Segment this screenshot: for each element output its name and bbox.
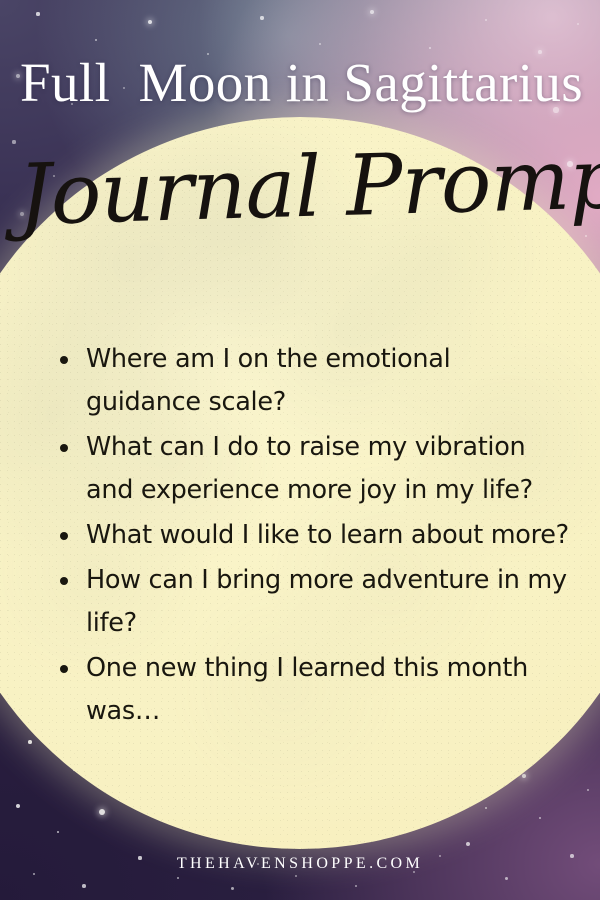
page-title: Full Moon in Sagittarius bbox=[20, 55, 586, 110]
prompt-text: Where am I on the emotional guidance sca… bbox=[86, 344, 450, 417]
star-dot bbox=[177, 877, 180, 880]
star-dot bbox=[295, 875, 297, 877]
bullet-icon bbox=[60, 577, 68, 585]
star-dot bbox=[36, 12, 39, 15]
prompt-text: One new thing I learned this month was… bbox=[86, 653, 528, 726]
script-heading: Journal Prompts bbox=[17, 134, 585, 240]
prompt-text: What can I do to raise my vibration and … bbox=[86, 432, 533, 505]
prompt-list-item: How can I bring more adventure in my lif… bbox=[56, 559, 572, 645]
star-dot bbox=[505, 877, 508, 880]
star-dot bbox=[577, 23, 579, 25]
prompt-list-item: One new thing I learned this month was… bbox=[56, 647, 572, 733]
star-dot bbox=[231, 887, 234, 890]
prompt-text: What would I like to learn about more? bbox=[86, 520, 569, 550]
star-dot bbox=[319, 43, 321, 45]
star-dot bbox=[370, 10, 374, 14]
bullet-icon bbox=[60, 532, 68, 540]
star-dot bbox=[95, 39, 97, 41]
star-dot bbox=[148, 20, 152, 24]
prompt-list-item: What would I like to learn about more? bbox=[56, 514, 572, 557]
star-dot bbox=[260, 16, 263, 19]
prompt-list-item: Where am I on the emotional guidance sca… bbox=[56, 338, 572, 424]
star-dot bbox=[485, 19, 487, 21]
journal-prompt-list: Where am I on the emotional guidance sca… bbox=[56, 338, 572, 735]
bullet-icon bbox=[60, 665, 68, 673]
star-dot bbox=[33, 873, 35, 875]
star-dot bbox=[355, 885, 358, 888]
bullet-icon bbox=[60, 356, 68, 364]
footer-website-url: THEHAVENSHOPPE.COM bbox=[0, 855, 600, 873]
prompt-text: How can I bring more adventure in my lif… bbox=[86, 565, 567, 638]
prompt-list-item: What can I do to raise my vibration and … bbox=[56, 426, 572, 512]
star-dot bbox=[429, 47, 432, 50]
star-dot bbox=[82, 884, 86, 888]
poster-canvas: Full Moon in Sagittarius Journal Prompts… bbox=[0, 0, 600, 900]
bullet-icon bbox=[60, 444, 68, 452]
